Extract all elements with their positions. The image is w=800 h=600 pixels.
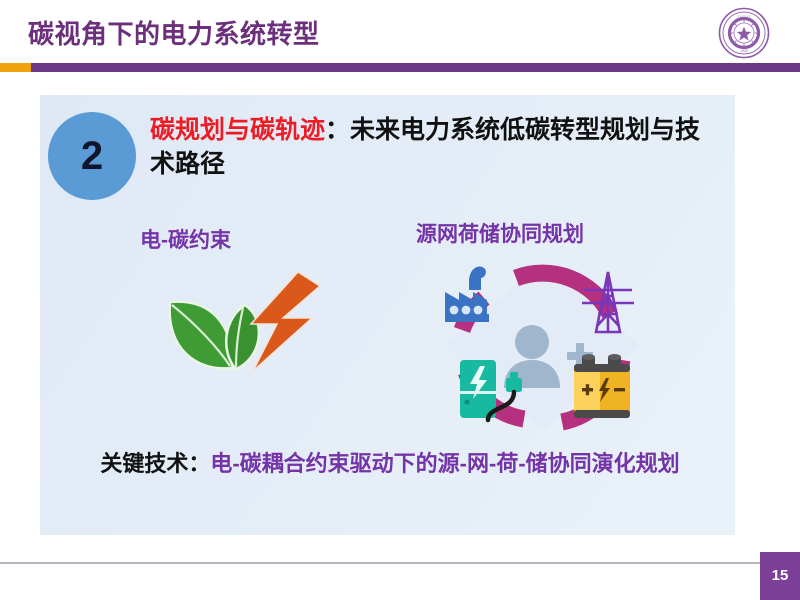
presentation-slide: 碳视角下的电力系统转型 ⬩ ⬩ ⬩ ⬩: [0, 0, 800, 600]
section-heading-highlight: 碳规划与碳轨迹: [150, 116, 325, 144]
key-technology-body: 电-碳耦合约束驱动下的源-网-荷-储协同演化规划: [210, 451, 679, 476]
green-leaves-lightning-icon: [150, 268, 335, 403]
label-source-grid-load-storage-planning: 源网荷储协同规划: [416, 218, 584, 248]
page-title: 碳视角下的电力系统转型: [28, 14, 320, 51]
svg-text:1905: 1905: [740, 49, 748, 53]
key-technology-prefix: 关键技术：: [100, 451, 210, 476]
header-divider-accent: [0, 63, 31, 72]
source-grid-load-storage-cycle-diagram: [432, 256, 652, 436]
section-heading: 碳规划与碳轨迹：未来电力系统低碳转型规划与技术路径: [150, 114, 715, 181]
section-number-badge: 2: [48, 112, 136, 200]
header-divider: [0, 63, 800, 72]
label-electricity-carbon-constraint: 电-碳约束: [140, 224, 231, 254]
slide-number-badge: 15: [760, 552, 800, 600]
section-number-label: 2: [48, 112, 136, 200]
svg-text:⬩ ⬩ ⬩ ⬩ ⬩ ⬩: ⬩ ⬩ ⬩ ⬩ ⬩ ⬩: [738, 14, 751, 18]
university-seal-logo: ⬩ ⬩ ⬩ ⬩ ⬩ ⬩ 1905: [718, 7, 770, 59]
footer-divider: [0, 562, 800, 564]
section-heading-separator: ：: [325, 116, 350, 144]
header-divider-bar: [31, 63, 800, 72]
key-technology-statement: 关键技术：电-碳耦合约束驱动下的源-网-荷-储协同演化规划: [60, 448, 720, 479]
slide-header: 碳视角下的电力系统转型 ⬩ ⬩ ⬩ ⬩: [0, 0, 800, 62]
factory-icon: [445, 267, 489, 322]
slide-number-label: 15: [760, 552, 800, 600]
